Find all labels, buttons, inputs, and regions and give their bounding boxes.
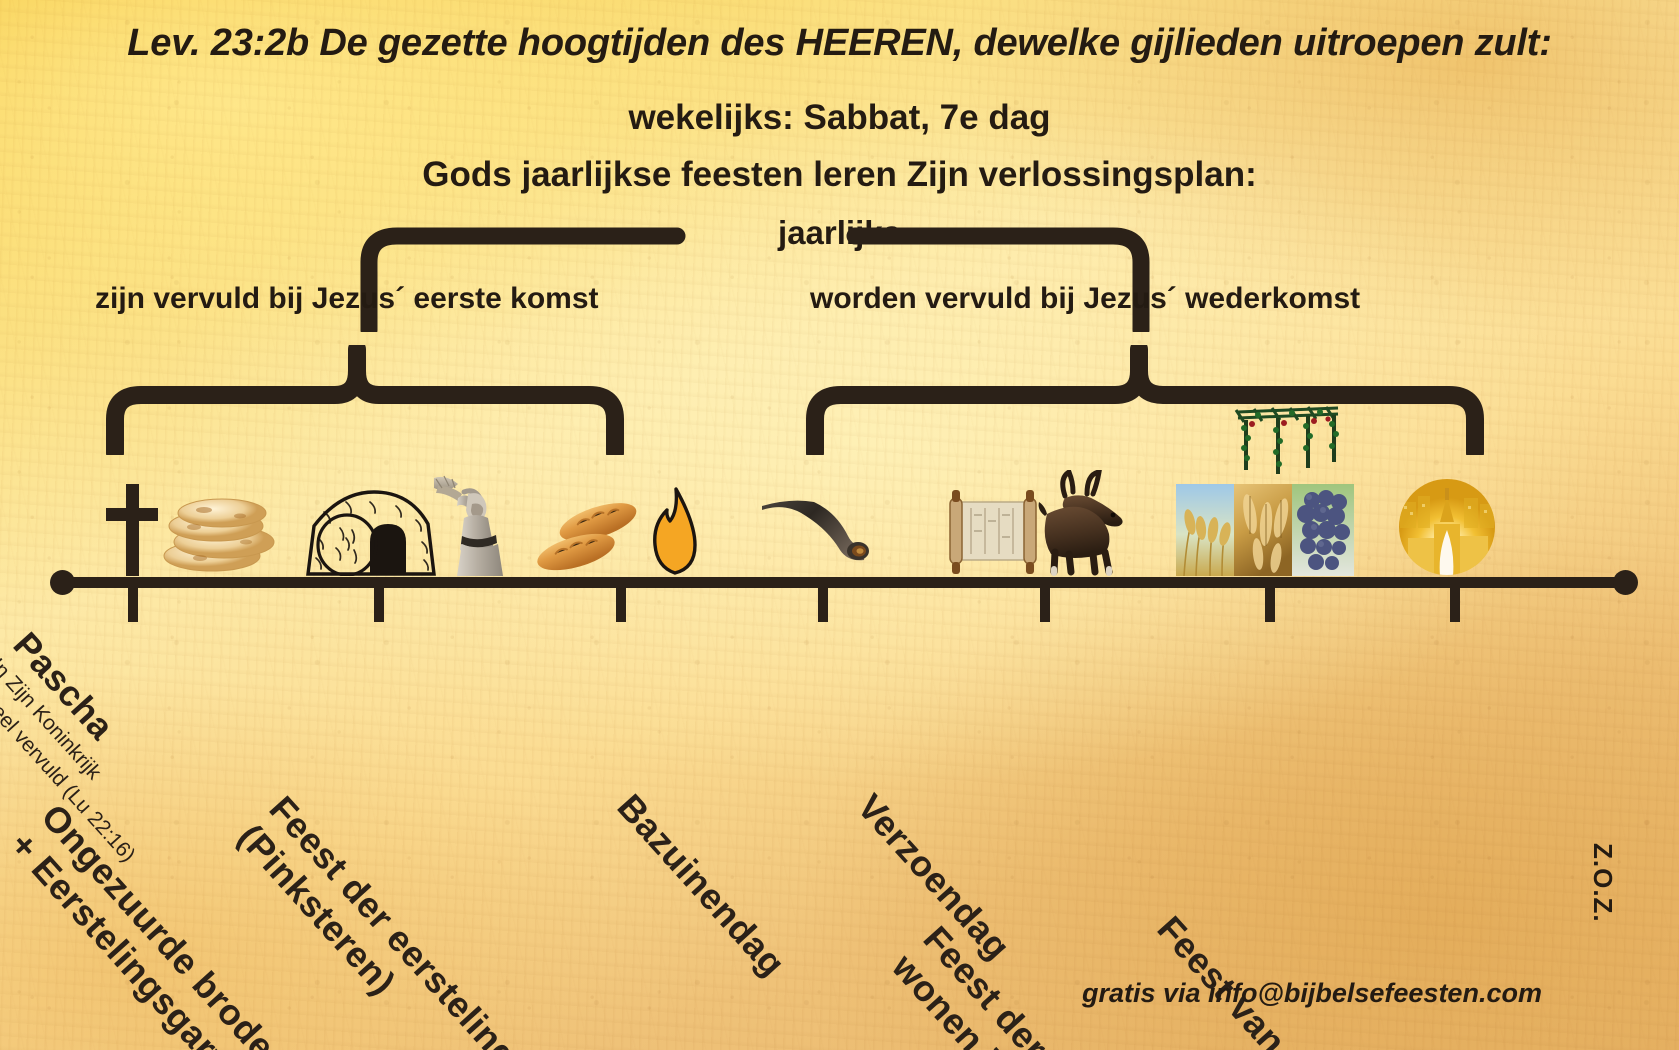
feast-name: Bazuinendag [609, 786, 794, 985]
scapegoat-icon [1035, 470, 1155, 576]
priest-with-sheaf-icon [428, 474, 508, 576]
timeline-tick-achtste-dag [1450, 588, 1460, 622]
new-jerusalem-icon [1398, 478, 1496, 576]
timeline-tick-bazuinendag [818, 588, 828, 622]
feast-label-bazuinendag: Bazuinendag [609, 786, 794, 985]
group-label-first-coming: zijn vervuld bij Jezus´ eerste komst [95, 282, 599, 316]
empty-tomb-icon [300, 490, 440, 576]
matzah-stack-icon [160, 496, 282, 572]
harvest-photos-icon [1176, 484, 1354, 576]
timeline-tick-pascha [128, 588, 138, 622]
contact-email[interactable]: gratis via info@bijbelsefeesten.com [1082, 978, 1542, 1009]
timeline-axis [58, 577, 1630, 588]
page-title: Lev. 23:2b De gezette hoogtijden des HEE… [0, 22, 1679, 65]
timeline-start-cap [50, 570, 75, 595]
sukkah-icon [1232, 398, 1344, 482]
yearly-bracket-label: jaarlijks [0, 214, 1679, 252]
two-loaves-icon [528, 500, 648, 572]
flame-icon [652, 486, 698, 576]
timeline-tick-ongezuurde-broden [374, 588, 384, 622]
yearly-feast-intro: Gods jaarlijkse feesten leren Zijn verlo… [0, 155, 1679, 195]
feast-label-eerstelingen: Feest der eerstelingen (Pinksteren) [230, 788, 555, 1050]
right-group-brace [805, 345, 1485, 455]
left-group-brace [105, 345, 625, 455]
shofar-icon [760, 500, 870, 562]
cross-icon [104, 484, 160, 576]
torah-scroll-icon [938, 490, 1048, 574]
timeline-tick-inzameling [1265, 588, 1275, 622]
timeline-tick-eerstelingen [616, 588, 626, 622]
timeline-tick-verzoendag [1040, 588, 1050, 622]
group-label-second-coming: worden vervuld bij Jezus´ wederkomst [810, 282, 1360, 316]
weekly-feast-line: wekelijks: Sabbat, 7e dag [0, 98, 1679, 138]
turn-over-note: Z.O.Z. [1587, 843, 1618, 923]
poster-canvas: Lev. 23:2b De gezette hoogtijden des HEE… [0, 0, 1679, 1050]
timeline-end-cap [1613, 570, 1638, 595]
